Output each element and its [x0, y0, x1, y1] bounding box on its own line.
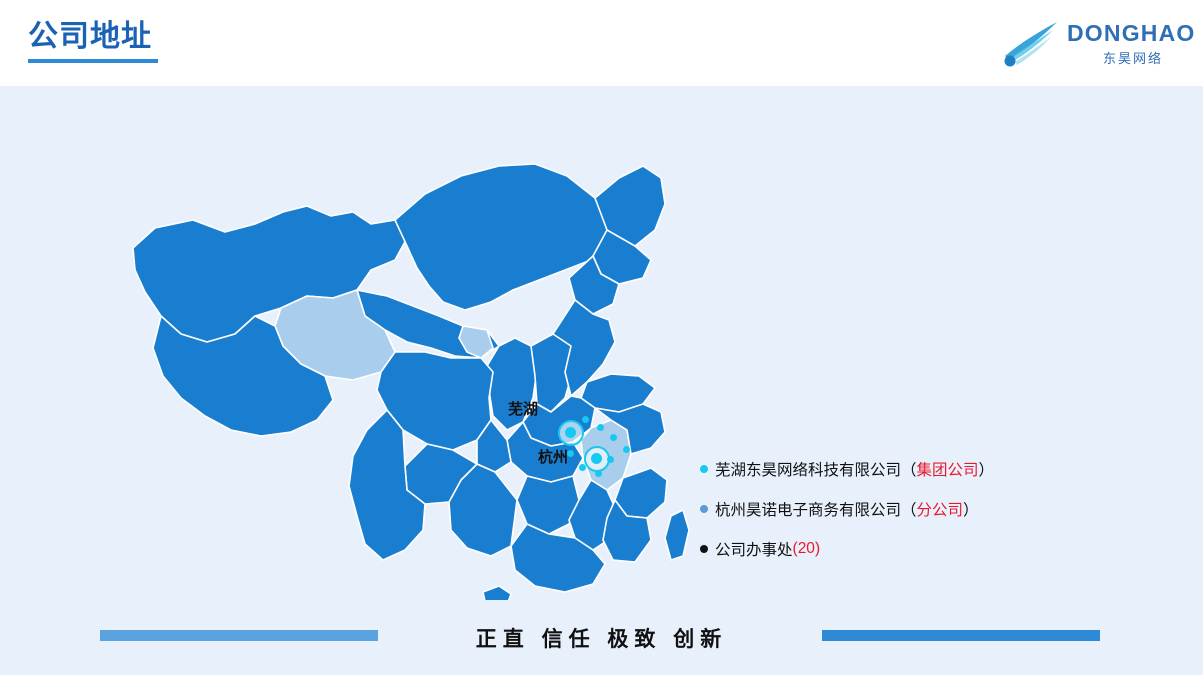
legend-label-branch-company: 杭州昊诺电子商务有限公司 — [715, 498, 901, 520]
office-dot — [623, 446, 630, 453]
china-map-svg — [95, 120, 735, 600]
office-dot — [607, 456, 614, 463]
page-title-wrap: 公司地址 — [28, 18, 158, 63]
legend-paren-open-1: （ — [901, 498, 917, 520]
logo-text-en: DONGHAO — [1067, 20, 1196, 47]
office-dot — [579, 464, 586, 471]
office-dot — [595, 470, 602, 477]
legend-paren-open-0: （ — [901, 458, 917, 480]
slide: 公司地址 DONGHAO 东昊网络 — [0, 0, 1203, 675]
page-title: 公司地址 — [28, 18, 158, 56]
legend-dot-icon-cyan — [700, 465, 708, 473]
slide-header: 公司地址 DONGHAO 东昊网络 — [0, 0, 1203, 86]
china-map: 芜湖 杭州 — [95, 120, 735, 600]
office-dot — [597, 424, 604, 431]
office-dot — [582, 416, 589, 423]
office-dot — [567, 450, 574, 457]
legend-dot-icon-black — [700, 545, 708, 553]
legend-highlight-2: 20 — [798, 540, 815, 558]
province-taiwan — [665, 510, 689, 560]
legend-label-group-company: 芜湖东昊网络科技有限公司 — [715, 458, 901, 480]
logo-text-cn: 东昊网络 — [1103, 48, 1163, 67]
legend-item-offices: 公司办事处 ( 20 ) — [700, 538, 1170, 560]
marker-hangzhou-dot[interactable] — [591, 453, 602, 464]
footer-slogan: 正直 信任 极致 创新 — [0, 623, 1203, 653]
title-underline — [28, 59, 158, 63]
legend-label-offices: 公司办事处 — [715, 538, 793, 560]
company-logo: DONGHAO 东昊网络 — [1001, 14, 1181, 72]
map-label-wuhu: 芜湖 — [508, 398, 538, 419]
logo-mark-icon — [1001, 16, 1063, 68]
legend: 芜湖东昊网络科技有限公司 （ 集团公司 ） 杭州昊诺电子商务有限公司 （ 分公司… — [700, 458, 1170, 578]
legend-dot-icon-blue — [700, 505, 708, 513]
map-label-hangzhou: 杭州 — [538, 446, 568, 467]
marker-wuhu-dot[interactable] — [565, 427, 576, 438]
office-dot — [610, 434, 617, 441]
legend-paren-close-0: ） — [979, 458, 995, 480]
legend-paren-close-1: ） — [963, 498, 979, 520]
province-hainan — [483, 586, 511, 600]
legend-highlight-1: 分公司 — [917, 498, 964, 520]
legend-paren-close-2: ) — [815, 540, 820, 558]
legend-item-group-company: 芜湖东昊网络科技有限公司 （ 集团公司 ） — [700, 458, 1170, 480]
legend-highlight-0: 集团公司 — [917, 458, 979, 480]
legend-item-branch-company: 杭州昊诺电子商务有限公司 （ 分公司 ） — [700, 498, 1170, 520]
